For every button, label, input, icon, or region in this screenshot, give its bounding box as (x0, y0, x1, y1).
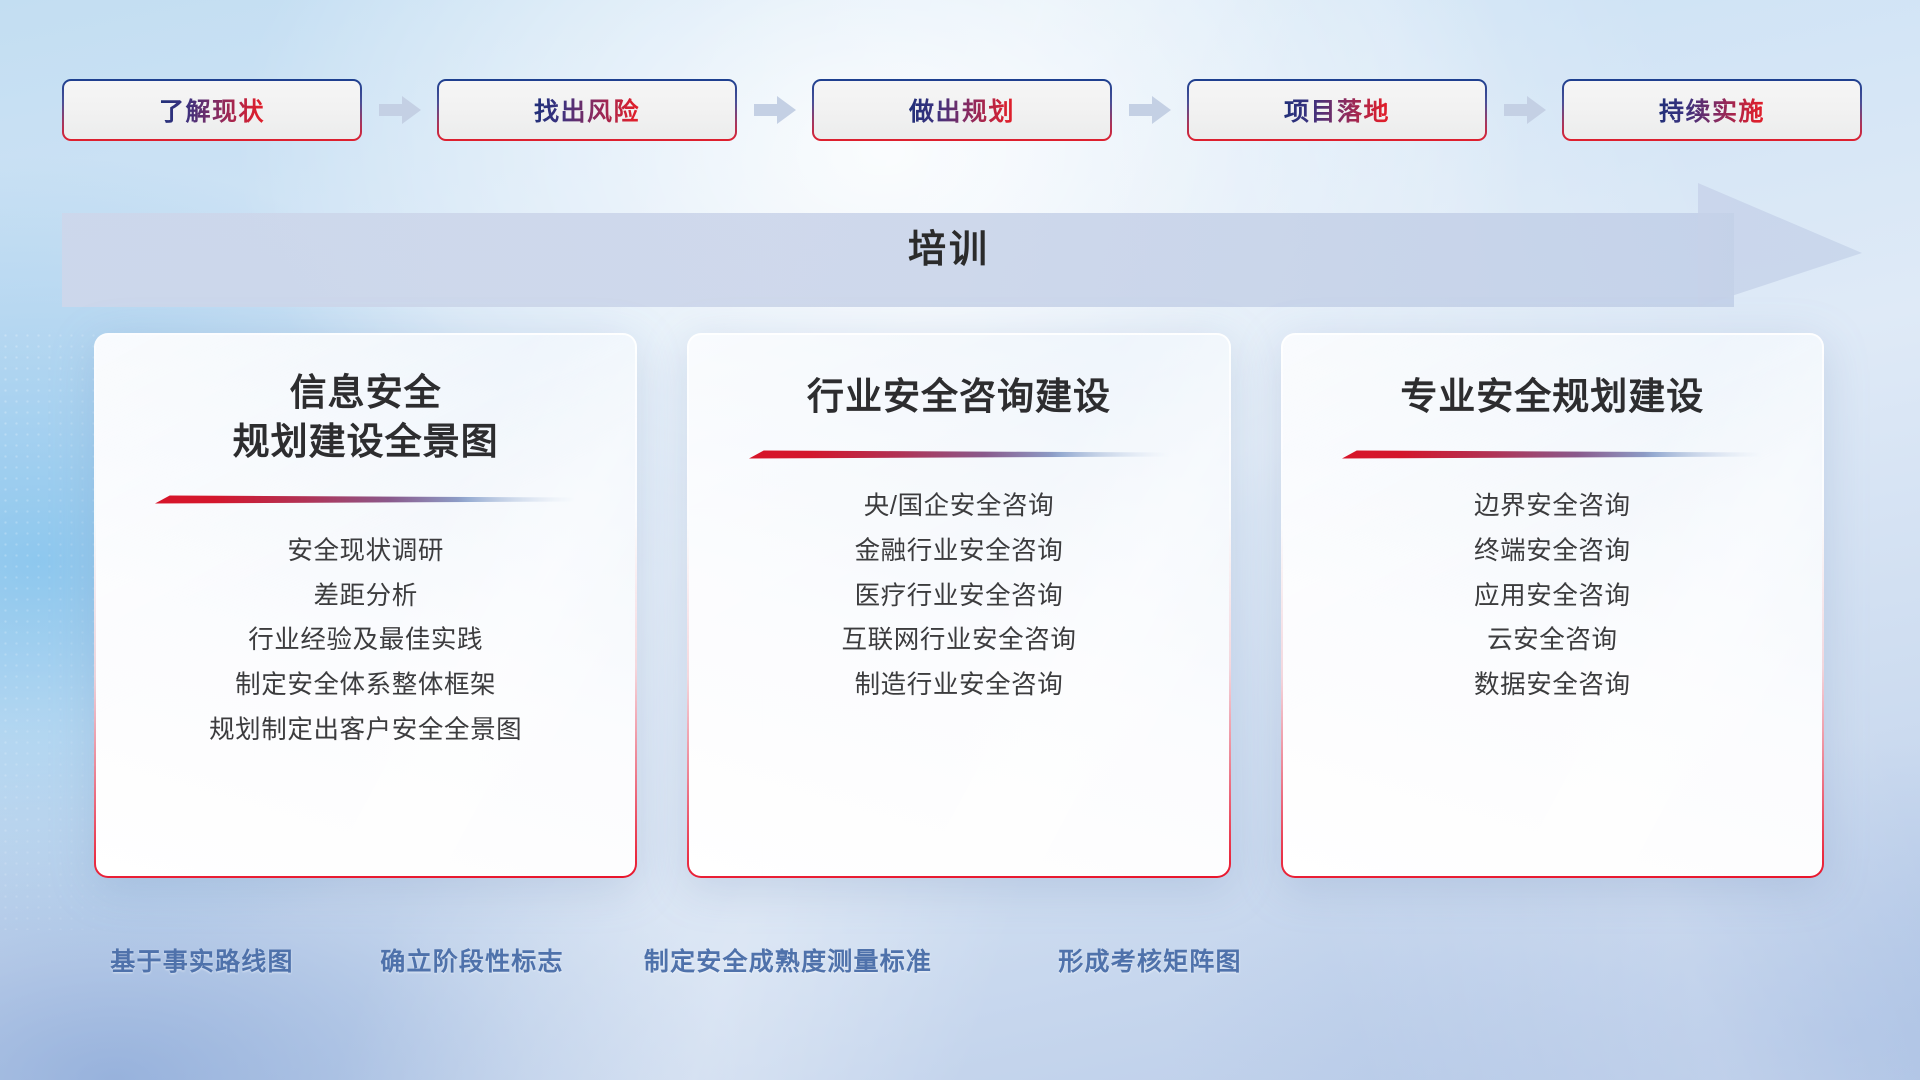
card-3-title: 专业安全规划建设 (1400, 373, 1704, 422)
card-1-surface: 信息安全 规划建设全景图 (96, 335, 635, 876)
list-item: 安全现状调研 (287, 536, 444, 568)
list-item: 医疗行业安全咨询 (855, 581, 1064, 613)
list-item: 差距分析 (313, 581, 417, 613)
list-item: 制定安全体系整体框架 (235, 670, 496, 702)
process-step-2-label: 找出风险 (534, 92, 640, 128)
process-step-4-label: 项目落地 (1284, 92, 1390, 128)
list-item: 应用安全咨询 (1474, 581, 1631, 613)
process-step-3-surface: 做出规划 (814, 81, 1110, 139)
list-item: 云安全咨询 (1487, 625, 1618, 657)
process-step-5-label: 持续实施 (1659, 92, 1765, 128)
process-step-row: 了解现状 找出风险 做出规划 项目落地 (62, 79, 1862, 141)
card-2-title: 行业安全咨询建设 (807, 373, 1111, 422)
card-1-item-list: 安全现状调研 差距分析 行业经验及最佳实践 制定安全体系整体框架 规划制定出客户… (96, 536, 635, 747)
outcome-label-4: 形成考核矩阵图 (1058, 942, 1241, 978)
process-step-3[interactable]: 做出规划 (812, 79, 1112, 141)
outcome-label-row: 基于事实路线图 确立阶段性标志 制定安全成熟度测量标准 形成考核矩阵图 (0, 940, 1920, 980)
list-item: 央/国企安全咨询 (864, 491, 1054, 523)
list-item: 制造行业安全咨询 (855, 670, 1064, 702)
outcome-label-3: 制定安全成熟度测量标准 (644, 942, 932, 978)
process-step-2[interactable]: 找出风险 (437, 79, 737, 141)
card-professional-security-planning[interactable]: 专业安全规划建设 (1281, 333, 1824, 878)
arrow-right-icon (1503, 95, 1547, 125)
training-banner-label: 培训 (908, 218, 990, 273)
list-item: 金融行业安全咨询 (855, 536, 1064, 568)
process-step-1-surface: 了解现状 (64, 81, 360, 139)
process-step-1[interactable]: 了解现状 (62, 79, 362, 141)
arrow-right-icon (378, 95, 422, 125)
card-information-security-panorama[interactable]: 信息安全 规划建设全景图 (94, 333, 637, 878)
card-3-surface: 专业安全规划建设 (1283, 335, 1822, 876)
card-3-item-list: 边界安全咨询 终端安全咨询 应用安全咨询 云安全咨询 数据安全咨询 (1283, 491, 1822, 702)
list-item: 行业经验及最佳实践 (248, 625, 483, 657)
process-step-5[interactable]: 持续实施 (1562, 79, 1862, 141)
list-item: 终端安全咨询 (1474, 536, 1631, 568)
training-banner-label-wrap: 培训 (62, 183, 1854, 307)
training-banner: 培训 (62, 183, 1862, 307)
card-industry-security-consulting[interactable]: 行业安全咨询建设 (687, 333, 1230, 878)
process-step-4-surface: 项目落地 (1189, 81, 1485, 139)
list-item: 互联网行业安全咨询 (842, 625, 1077, 657)
list-item: 规划制定出客户安全全景图 (209, 715, 522, 747)
process-step-2-surface: 找出风险 (439, 81, 735, 139)
list-item: 边界安全咨询 (1474, 491, 1631, 523)
outcome-label-1: 基于事实路线图 (110, 942, 293, 978)
card-group: 信息安全 规划建设全景图 (94, 333, 1824, 878)
tapered-divider-icon (1342, 448, 1763, 461)
card-2-item-list: 央/国企安全咨询 金融行业安全咨询 医疗行业安全咨询 互联网行业安全咨询 制造行… (689, 491, 1228, 702)
process-step-3-label: 做出规划 (909, 92, 1015, 128)
tapered-divider-icon (155, 493, 576, 506)
arrow-right-icon (753, 95, 797, 125)
tapered-divider-icon (749, 448, 1170, 461)
outcome-label-2: 确立阶段性标志 (380, 942, 563, 978)
process-step-4[interactable]: 项目落地 (1187, 79, 1487, 141)
process-step-5-surface: 持续实施 (1564, 81, 1860, 139)
card-2-surface: 行业安全咨询建设 (689, 335, 1228, 876)
arrow-right-icon (1128, 95, 1172, 125)
list-item: 数据安全咨询 (1474, 670, 1631, 702)
card-1-title: 信息安全 规划建设全景图 (233, 369, 499, 467)
process-step-1-label: 了解现状 (159, 92, 265, 128)
